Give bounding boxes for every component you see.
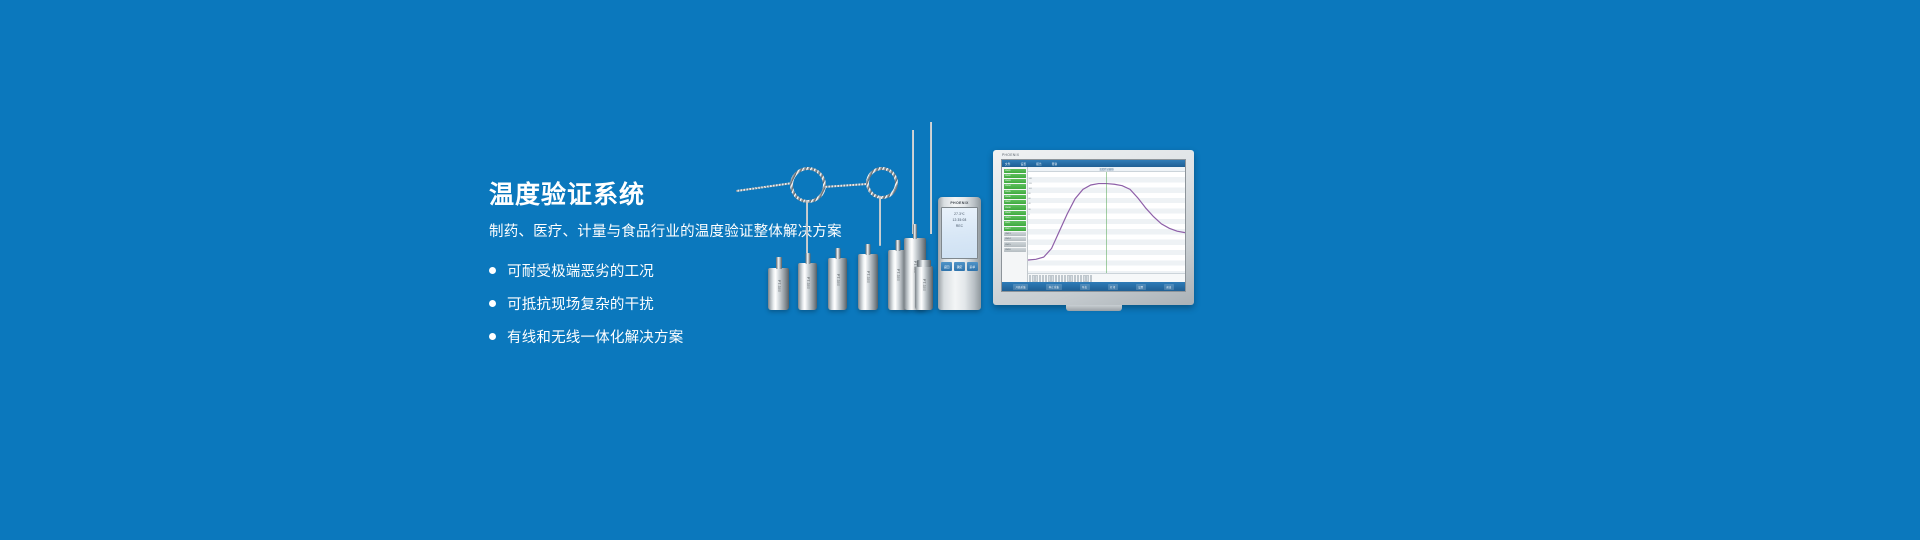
feature-label: 可抵抗现场复杂的干扰 [507, 293, 654, 314]
chart-x-axis [1028, 273, 1185, 282]
channel-item[interactable]: CH10 [1004, 216, 1026, 220]
logger-cap [913, 224, 917, 239]
bullet-dot-icon [489, 333, 496, 340]
channel-item[interactable]: CH13 [1004, 232, 1026, 236]
footer-button-exit[interactable]: 退出 [1164, 284, 1174, 290]
channel-item[interactable]: CH04 [1004, 184, 1026, 188]
channel-item[interactable]: CH15 [1004, 242, 1026, 246]
channel-item[interactable]: CH08 [1004, 205, 1026, 209]
sensor-lead-wire [824, 183, 872, 188]
handheld-status: REC [944, 223, 975, 229]
footer-button-start[interactable]: 开始采集 [1013, 284, 1028, 290]
logger-label: PT-300 [896, 269, 900, 281]
channel-item[interactable]: CH12 [1004, 227, 1026, 231]
temperature-curve-chart [1028, 172, 1185, 273]
feature-label: 可耐受极端恶劣的工况 [507, 260, 654, 281]
x-tick [1029, 275, 1031, 282]
x-tick [1042, 275, 1044, 282]
validation-monitor: PHOENIX 文件 设置 报告 帮助 CH01 CH02 CH03 CH04 … [993, 150, 1194, 305]
sensor-lead-wire [736, 182, 796, 192]
footer-button-settings[interactable]: 设置 [1136, 284, 1146, 290]
x-tick [1061, 275, 1063, 282]
x-tick [1045, 275, 1047, 282]
channel-item[interactable]: CH16 [1004, 248, 1026, 252]
chart-panel: 温度验证曲线 140 120 100 80 60 40 20 0 [1028, 167, 1185, 282]
handheld-key-ok[interactable]: 确定 [954, 262, 965, 271]
handheld-screen: 27.3℃ 12:35:08 REC [941, 207, 978, 259]
logger-cap [917, 260, 931, 267]
handheld-key-back[interactable]: 返回 [941, 262, 952, 271]
x-tick [1035, 275, 1037, 282]
footer-button-export[interactable]: 导出 [1080, 284, 1090, 290]
needle-probe [930, 122, 932, 234]
logger-label: PT-300 [866, 271, 870, 283]
logger-cap [805, 253, 810, 264]
handheld-reader[interactable]: PHOENIX 27.3℃ 12:35:08 REC 返回 确定 菜单 [938, 197, 981, 310]
x-tick [1077, 275, 1079, 282]
hero-banner: 温度验证系统 制药、医疗、计量与食品行业的温度验证整体解决方案 可耐受极端恶劣的… [0, 0, 1920, 540]
footer-button-stop[interactable]: 停止采集 [1046, 284, 1061, 290]
data-logger: PT-300 [798, 263, 817, 310]
logger-label: PT-300 [806, 277, 810, 289]
channel-item[interactable]: CH01 [1004, 169, 1026, 173]
x-tick [1039, 275, 1041, 282]
x-tick [1090, 275, 1092, 282]
channel-item[interactable]: CH02 [1004, 174, 1026, 178]
probe-stem [879, 196, 881, 246]
toolbar-item-file[interactable]: 文件 [1005, 162, 1011, 166]
channel-item[interactable]: CH09 [1004, 211, 1026, 215]
x-tick [1067, 275, 1069, 282]
channel-item[interactable]: CH05 [1004, 190, 1026, 194]
x-tick [1064, 275, 1066, 282]
logger-label: PT-300 [922, 279, 926, 291]
monitor-stand [1066, 305, 1122, 311]
handheld-keypad: 返回 确定 菜单 [941, 262, 978, 271]
toolbar-item-settings[interactable]: 设置 [1021, 162, 1027, 166]
logger-cap [866, 244, 871, 255]
handheld-key-menu[interactable]: 菜单 [967, 262, 978, 271]
logger-cap [776, 257, 782, 269]
software-toolbar: 文件 设置 报告 帮助 [1002, 160, 1185, 167]
x-tick [1070, 275, 1072, 282]
coiled-probe-icon [866, 167, 898, 199]
x-tick [1086, 275, 1088, 282]
handheld-brand: PHOENIX [941, 201, 978, 205]
chart-plot-area: 140 120 100 80 60 40 20 0 [1028, 172, 1185, 273]
x-tick [1051, 275, 1053, 282]
channel-item[interactable]: CH06 [1004, 195, 1026, 199]
data-logger: PT-300 [915, 266, 933, 310]
product-photo-group: PT-300 PT-300 PT-300 PT-300 PT-300 PT-30… [740, 120, 1210, 310]
bullet-dot-icon [489, 267, 496, 274]
logger-label: PT-300 [836, 274, 840, 286]
x-tick [1048, 275, 1050, 282]
x-tick [1074, 275, 1076, 282]
footer-button-print[interactable]: 打印 [1108, 284, 1118, 290]
logger-cap [896, 240, 901, 251]
x-tick [1083, 275, 1085, 282]
monitor-brand: PHOENIX [1002, 153, 1019, 157]
bullet-dot-icon [489, 300, 496, 307]
channel-item[interactable]: CH11 [1004, 221, 1026, 225]
list-item: 有线和无线一体化解决方案 [489, 326, 949, 347]
toolbar-item-report[interactable]: 报告 [1036, 162, 1042, 166]
data-logger: PT-300 [768, 268, 789, 310]
channel-item[interactable]: CH07 [1004, 200, 1026, 204]
monitor-screen: 文件 设置 报告 帮助 CH01 CH02 CH03 CH04 CH05 CH0… [1001, 159, 1186, 292]
coiled-probe-icon [790, 167, 826, 203]
x-tick [1032, 275, 1034, 282]
logger-cap [835, 248, 840, 259]
x-tick [1080, 275, 1082, 282]
needle-probe [912, 130, 914, 234]
x-tick [1055, 275, 1057, 282]
software-body: CH01 CH02 CH03 CH04 CH05 CH06 CH07 CH08 … [1002, 167, 1185, 282]
toolbar-item-help[interactable]: 帮助 [1052, 162, 1058, 166]
probe-stem [806, 200, 808, 255]
data-logger: PT-300 [858, 254, 878, 310]
data-logger: PT-300 [828, 258, 847, 310]
x-tick [1058, 275, 1060, 282]
channel-list: CH01 CH02 CH03 CH04 CH05 CH06 CH07 CH08 … [1002, 167, 1028, 282]
logger-label: PT-300 [777, 280, 781, 292]
feature-label: 有线和无线一体化解决方案 [507, 326, 683, 347]
channel-item[interactable]: CH14 [1004, 237, 1026, 241]
channel-item[interactable]: CH03 [1004, 179, 1026, 183]
software-footer: 开始采集 停止采集 导出 打印 设置 退出 [1002, 282, 1185, 291]
